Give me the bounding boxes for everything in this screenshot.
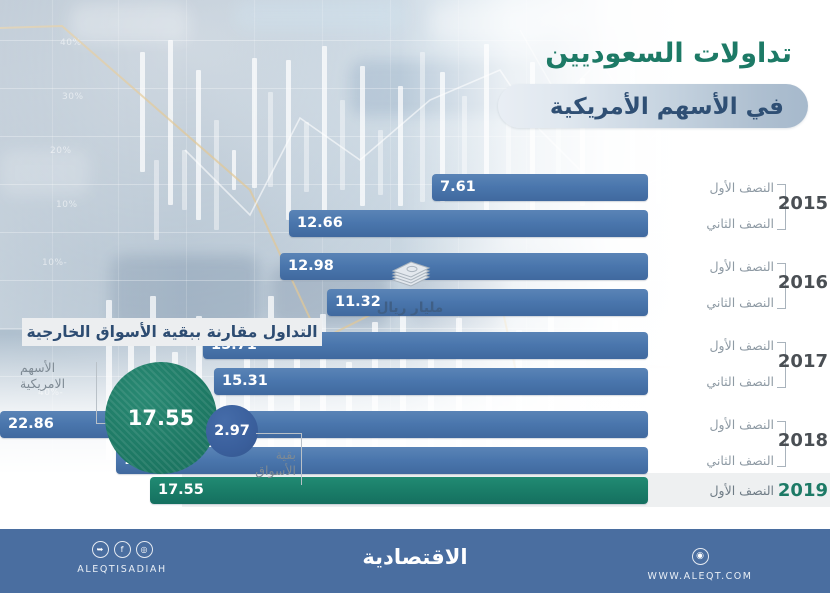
bubble-label-us-line1: الأسهم bbox=[20, 360, 90, 376]
leader-line-rest-horizontal bbox=[256, 433, 302, 434]
bar-2017-h2: 15.31 bbox=[214, 368, 648, 395]
leader-line-us-vertical bbox=[96, 362, 97, 424]
bar-value: 15.31 bbox=[222, 368, 268, 395]
unit-label: مليار ريال bbox=[370, 300, 450, 316]
year-label-2015: 2015 bbox=[778, 193, 828, 214]
bubble-label-rest-line2: الأسواق bbox=[238, 463, 296, 479]
bar-value: 22.86 bbox=[8, 411, 54, 438]
globe-icon: ◉ bbox=[692, 548, 709, 565]
bubble-label-rest: بقية الأسواق bbox=[238, 447, 296, 479]
half-label: النصف الثاني bbox=[706, 210, 774, 237]
bar-value: 7.61 bbox=[440, 174, 476, 201]
leader-line-rest-vertical bbox=[301, 433, 302, 485]
bar-2015-h2: 12.66 bbox=[289, 210, 648, 237]
bar-value: 12.66 bbox=[297, 210, 343, 237]
half-label: النصف الأول bbox=[709, 411, 774, 438]
year-label-2018: 2018 bbox=[778, 430, 828, 451]
money-stack-icon bbox=[387, 258, 433, 292]
year-label-2016: 2016 bbox=[778, 272, 828, 293]
footer-website-label: WWW.ALEQT.COM bbox=[630, 571, 770, 582]
half-label: النصف الأول bbox=[709, 253, 774, 280]
comparison-title: التداول مقارنة ببقية الأسواق الخارجية bbox=[22, 318, 322, 346]
bubble-us-value: 17.55 bbox=[105, 362, 217, 474]
page-subtitle: في الأسهم الأمريكية bbox=[550, 94, 784, 120]
half-label: النصف الأول bbox=[709, 477, 774, 504]
footer: ◎ f ➥ ALEQTISADIAH الاقتصادية ◉ WWW.ALEQ… bbox=[0, 529, 830, 593]
footer-website[interactable]: ◉ WWW.ALEQT.COM bbox=[630, 543, 770, 582]
year-label-2019: 2019 bbox=[778, 480, 828, 501]
infographic-root: 40% 30% 20% 10% -10% -40% 10 20 bbox=[0, 0, 830, 593]
bar-2019-h1: 17.55 bbox=[150, 477, 648, 504]
half-label: النصف الأول bbox=[709, 332, 774, 359]
bar-2016-h1: 12.98 bbox=[280, 253, 648, 280]
bubble-label-us: الأسهم الامريكية bbox=[20, 360, 90, 392]
half-label: النصف الأول bbox=[709, 174, 774, 201]
bar-value: 17.55 bbox=[158, 477, 204, 504]
bar-value: 12.98 bbox=[288, 253, 334, 280]
bar-2015-h1: 7.61 bbox=[432, 174, 648, 201]
page-title: تداولات السعوديين bbox=[545, 38, 792, 69]
half-label: النصف الثاني bbox=[706, 447, 774, 474]
bubble-label-us-line2: الامريكية bbox=[20, 376, 90, 392]
unit-note: مليار ريال bbox=[370, 258, 450, 316]
bubble-label-rest-line1: بقية bbox=[238, 447, 296, 463]
year-label-2017: 2017 bbox=[778, 351, 828, 372]
half-label: النصف الثاني bbox=[706, 289, 774, 316]
half-label: النصف الثاني bbox=[706, 368, 774, 395]
